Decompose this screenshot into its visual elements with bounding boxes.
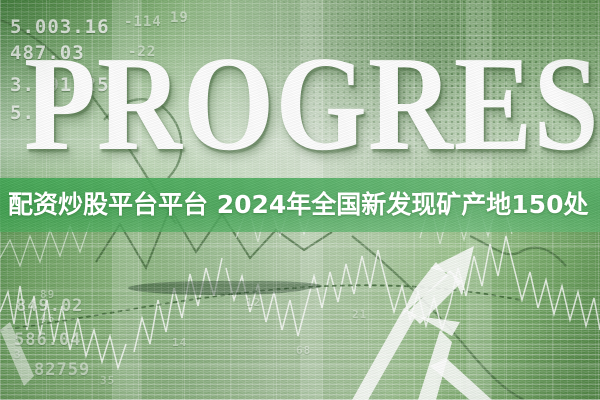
ticker-value: 3 [14, 348, 22, 361]
ticker-value: 68 [296, 344, 311, 357]
ticker-value: 586.04 [14, 330, 81, 350]
progress-wordmark: PROGRESS [24, 44, 576, 163]
ticker-value: 82759 [34, 360, 90, 380]
ticker-value: 12 [246, 296, 261, 309]
ticker-value: 89 [40, 288, 55, 301]
ticker-value: 35 [100, 374, 115, 387]
headline-text: 配资炒股平台平台 2024年全国新发现矿产地150处 [8, 182, 596, 228]
progress-banner-image: 5.003.16 487.03 3.691.25 5.87 849.02 586… [0, 0, 600, 400]
ticker-value: 46 [40, 312, 55, 325]
ticker-value: 19 [170, 10, 189, 26]
ticker-value: 21 [352, 308, 367, 321]
ticker-value: 14 [172, 336, 187, 349]
